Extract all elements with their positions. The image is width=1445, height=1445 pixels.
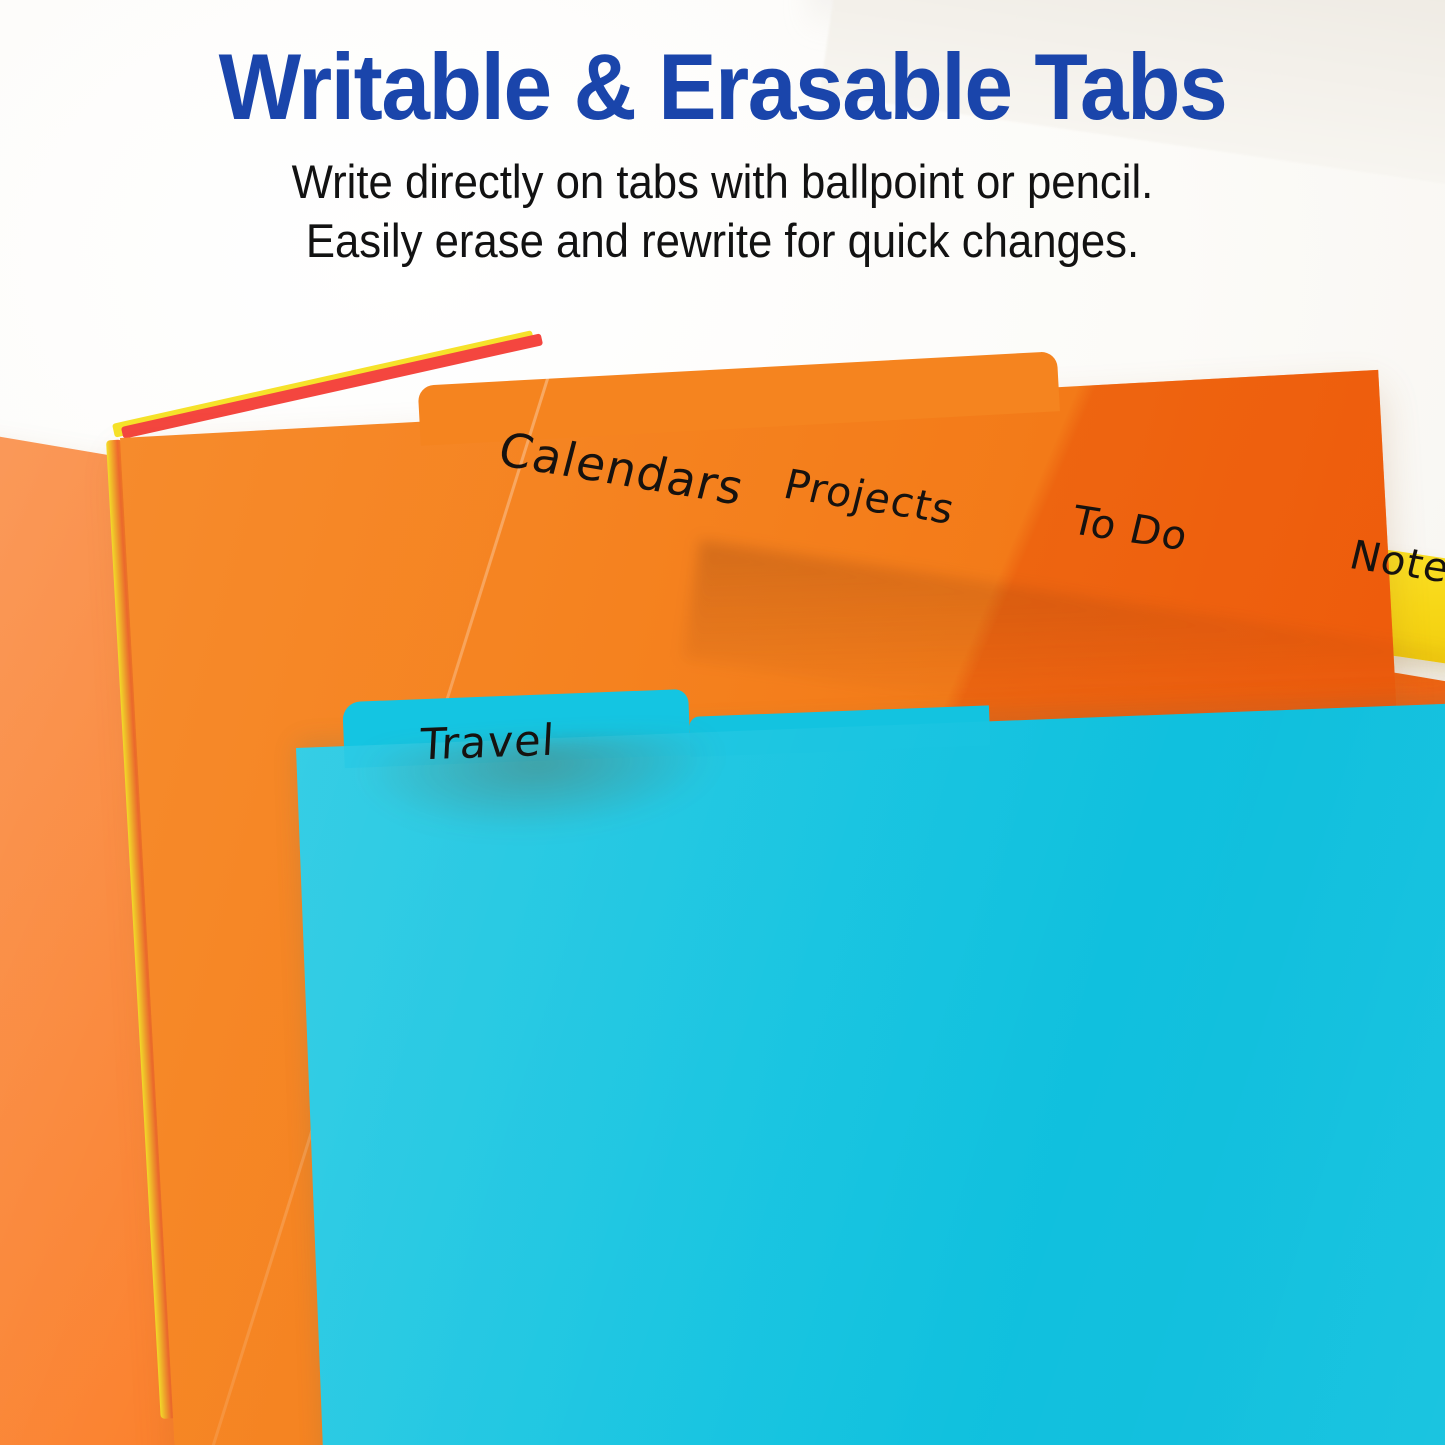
page-title: Writable & Erasable Tabs (51, 38, 1395, 136)
subtitle: Write directly on tabs with ballpoint or… (51, 152, 1395, 271)
marketing-image-canvas: Writable & Erasable Tabs Write directly … (0, 0, 1445, 1445)
sheet-cyan-sheen (296, 694, 1445, 1445)
subtitle-line-2: Easily erase and rewrite for quick chang… (51, 211, 1395, 271)
subtitle-line-1: Write directly on tabs with ballpoint or… (292, 155, 1154, 208)
headline-block: Writable & Erasable Tabs Write directly … (0, 38, 1445, 271)
sheet-cyan[interactable] (296, 694, 1445, 1445)
tab-label-travel: Travel (419, 716, 557, 771)
